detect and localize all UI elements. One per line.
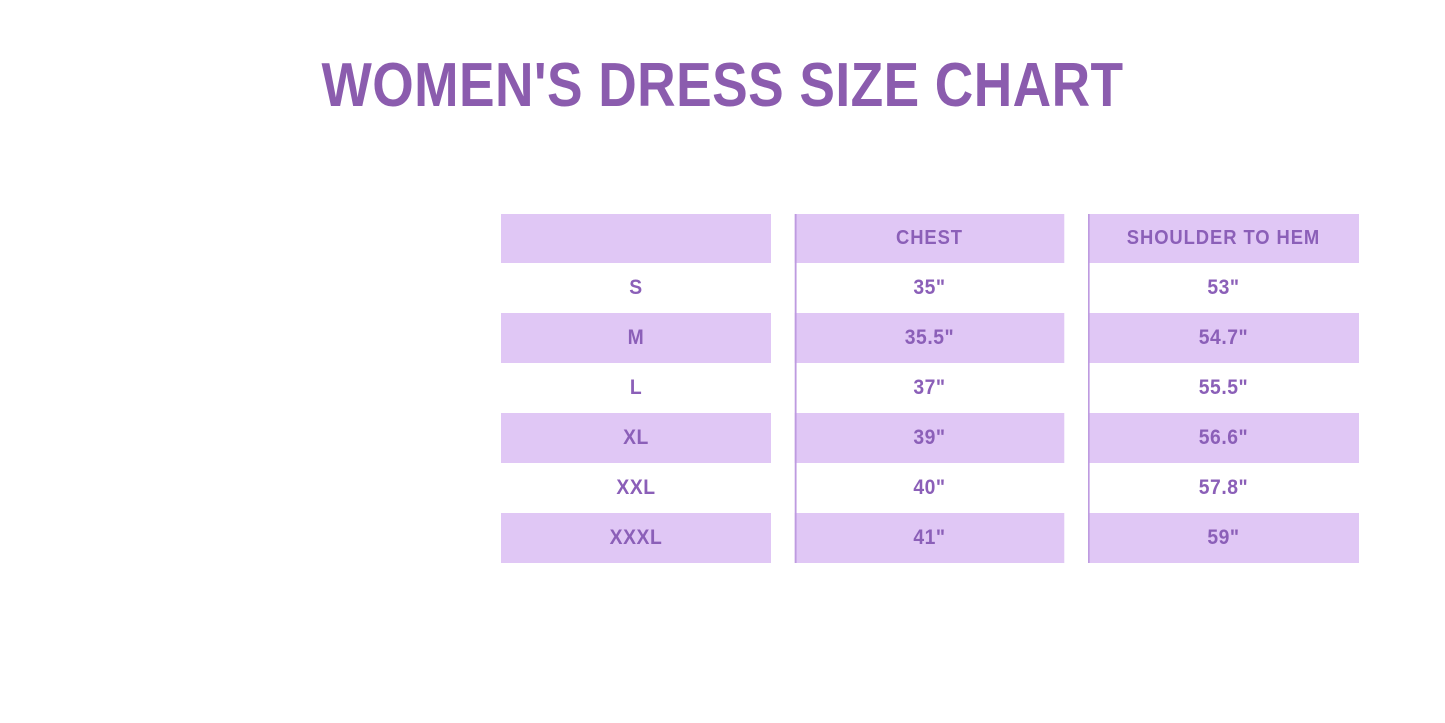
table-row: L 37" 55.5"	[489, 363, 1371, 413]
cell-shoulder-to-hem: 56.6"	[1088, 413, 1359, 463]
cell-chest: 40"	[795, 463, 1065, 513]
table-body: S 35" 53" M 35.5" 54.7" L 37" 55.5" XL 3…	[489, 263, 1371, 563]
cell-size: XXL	[501, 463, 771, 513]
table-header: CHEST SHOULDER TO HEM	[489, 214, 1371, 263]
cell-size: M	[501, 313, 771, 363]
table-header-row: CHEST SHOULDER TO HEM	[489, 214, 1371, 263]
cell-shoulder-to-hem: 59"	[1088, 513, 1359, 563]
page-title: WOMEN'S DRESS SIZE CHART	[101, 52, 1344, 120]
cell-size: S	[501, 263, 771, 313]
cell-chest: 37"	[795, 363, 1065, 413]
cell-shoulder-to-hem: 57.8"	[1088, 463, 1359, 513]
column-header-shoulder-to-hem: SHOULDER TO HEM	[1088, 214, 1359, 263]
cell-shoulder-to-hem: 54.7"	[1088, 313, 1359, 363]
table-row: S 35" 53"	[489, 263, 1371, 313]
size-chart-table: CHEST SHOULDER TO HEM S 35" 53" M 35.5" …	[489, 214, 1371, 563]
cell-chest: 35.5"	[795, 313, 1065, 363]
cell-shoulder-to-hem: 55.5"	[1088, 363, 1359, 413]
cell-chest: 39"	[795, 413, 1065, 463]
column-header-chest: CHEST	[795, 214, 1065, 263]
cell-shoulder-to-hem: 53"	[1088, 263, 1359, 313]
cell-chest: 35"	[795, 263, 1065, 313]
cell-size: L	[501, 363, 771, 413]
cell-size: XL	[501, 413, 771, 463]
column-header-size	[501, 214, 771, 263]
table-row: XXL 40" 57.8"	[489, 463, 1371, 513]
table-row: M 35.5" 54.7"	[489, 313, 1371, 363]
table-row: XL 39" 56.6"	[489, 413, 1371, 463]
cell-size: XXXL	[501, 513, 771, 563]
table-row: XXXL 41" 59"	[489, 513, 1371, 563]
size-chart-table-container: CHEST SHOULDER TO HEM S 35" 53" M 35.5" …	[489, 214, 1371, 567]
cell-chest: 41"	[795, 513, 1065, 563]
